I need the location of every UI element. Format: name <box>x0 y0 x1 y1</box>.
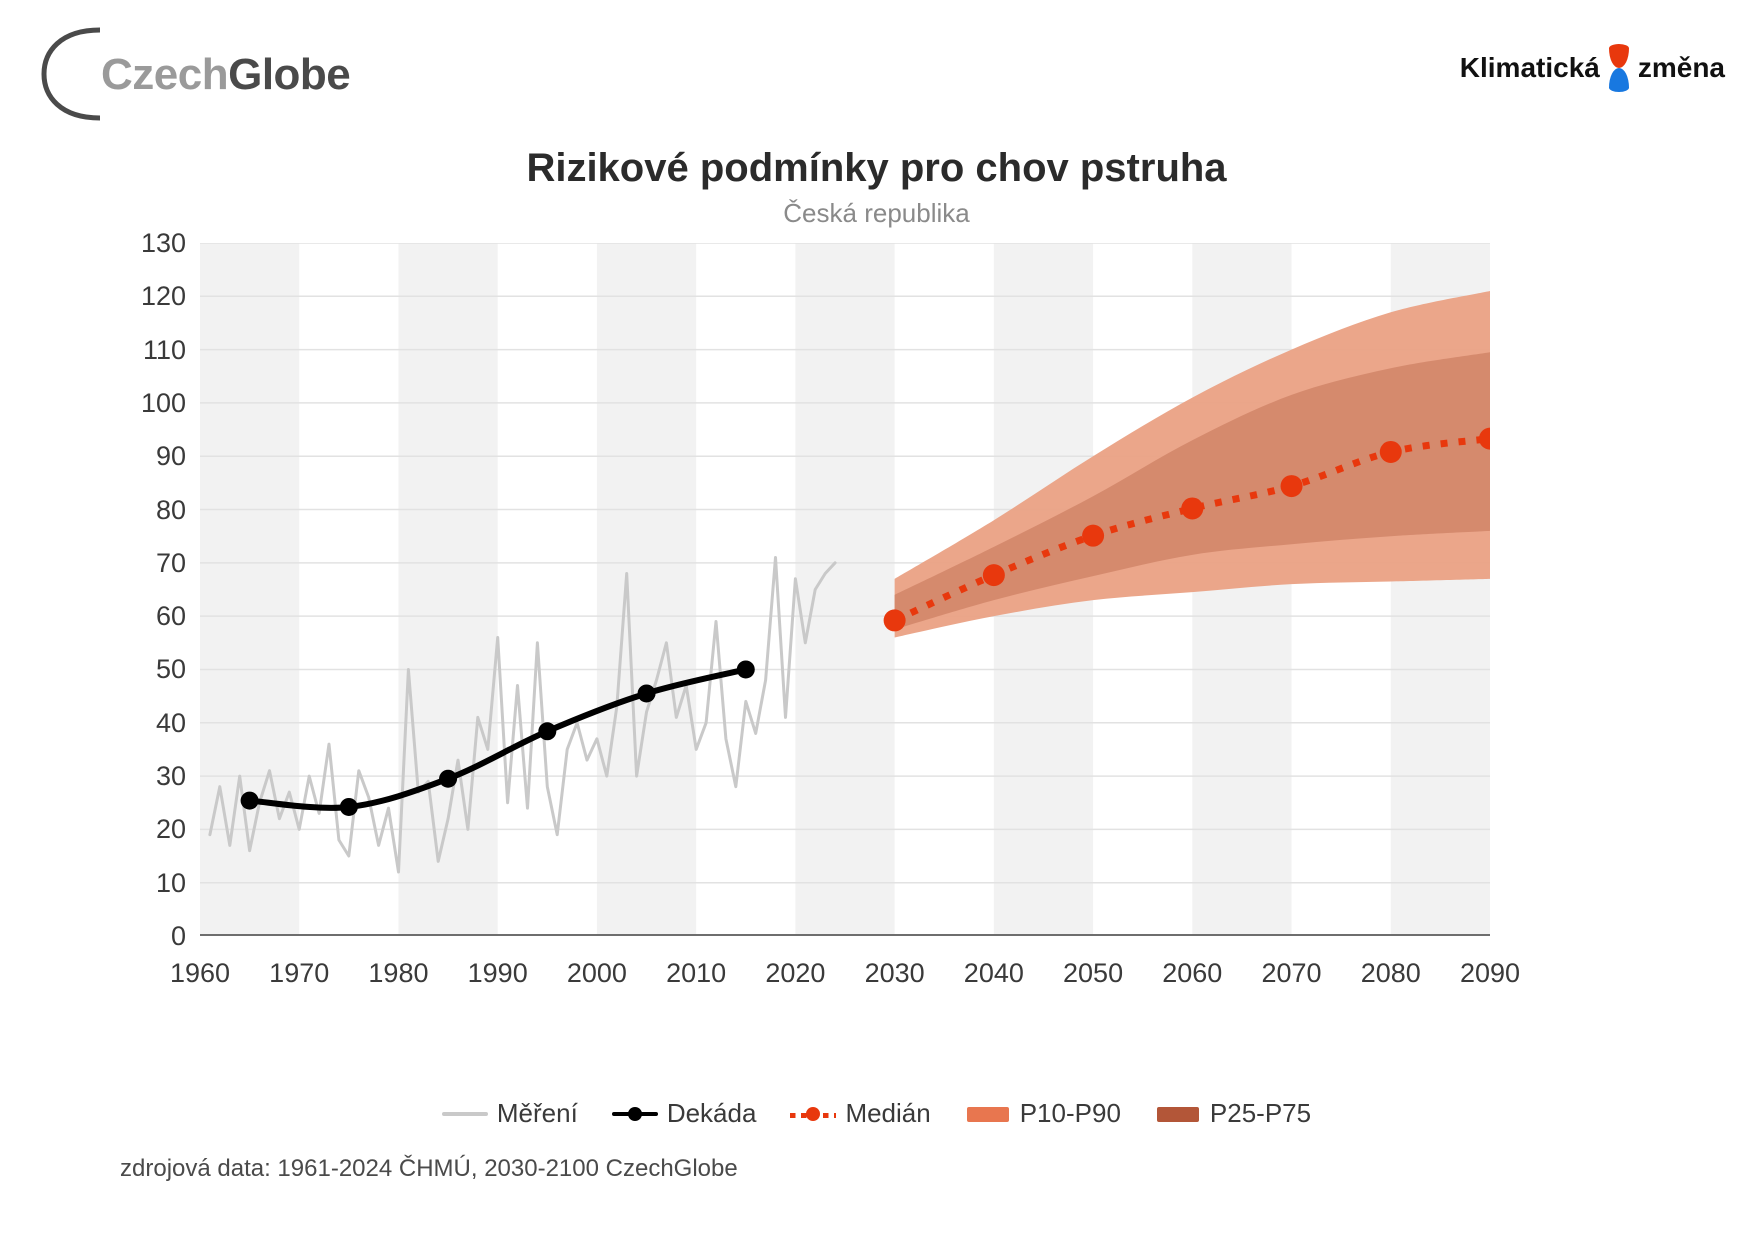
x-tick-label: 2090 <box>1420 960 1560 987</box>
legend-item[interactable]: P10-P90 <box>965 1098 1121 1129</box>
legend-item[interactable]: Medián <box>790 1098 930 1129</box>
y-tick-label: 130 <box>96 230 186 257</box>
y-tick-label: 40 <box>96 710 186 737</box>
legend-swatch-box-icon <box>1155 1103 1201 1125</box>
source-note: zdrojová data: 1961-2024 ČHMÚ, 2030-2100… <box>120 1155 738 1183</box>
legend-item[interactable]: Měření <box>442 1098 578 1129</box>
legend-swatch-box-icon <box>965 1103 1011 1125</box>
legend-swatch-line-icon <box>442 1103 488 1125</box>
y-tick-label: 70 <box>96 550 186 577</box>
series-measured <box>210 558 835 873</box>
y-tick-label: 30 <box>96 763 186 790</box>
legend-label: P10-P90 <box>1020 1098 1121 1129</box>
plot-svg <box>200 243 1490 936</box>
legend-swatch-linedot-icon <box>612 1103 658 1125</box>
legend-label: Měření <box>497 1098 578 1129</box>
y-tick-label: 50 <box>96 656 186 683</box>
chart-container: počet dní 010203040506070809010011012013… <box>0 0 1753 1240</box>
plot-area <box>200 243 1490 936</box>
legend-label: Medián <box>845 1098 930 1129</box>
legend-label: P25-P75 <box>1210 1098 1311 1129</box>
y-tick-label: 20 <box>96 816 186 843</box>
y-tick-label: 110 <box>96 337 186 364</box>
y-tick-label: 90 <box>96 443 186 470</box>
y-tick-label: 10 <box>96 870 186 897</box>
y-tick-label: 100 <box>96 390 186 417</box>
y-tick-label: 0 <box>96 923 186 950</box>
y-tick-label: 60 <box>96 603 186 630</box>
chart-legend: MěřeníDekádaMediánP10-P90P25-P75 <box>0 1098 1753 1129</box>
y-tick-label: 80 <box>96 497 186 524</box>
legend-item[interactable]: Dekáda <box>612 1098 757 1129</box>
legend-label: Dekáda <box>667 1098 757 1129</box>
legend-swatch-dotted-icon <box>790 1103 836 1125</box>
legend-item[interactable]: P25-P75 <box>1155 1098 1311 1129</box>
y-tick-label: 120 <box>96 283 186 310</box>
